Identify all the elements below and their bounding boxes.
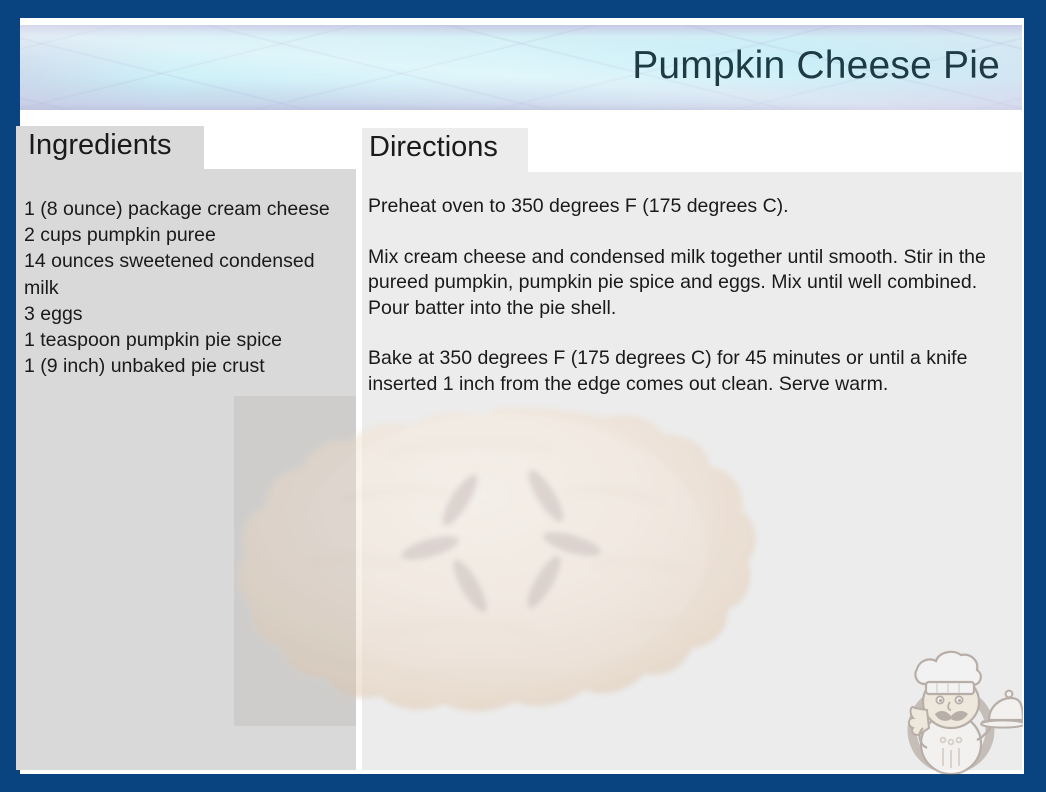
page-title: Pumpkin Cheese Pie [632, 44, 1000, 88]
direction-step: Mix cream cheese and condensed milk toge… [368, 245, 1016, 322]
recipe-card: Pumpkin Cheese Pie Ingredients 1 (8 ounc… [0, 0, 1046, 792]
ingredient-item: 2 cups pumpkin puree [24, 222, 350, 248]
recipe-banner: Pumpkin Cheese Pie [20, 25, 1022, 110]
direction-step: Preheat oven to 350 degrees F (175 degre… [368, 194, 1016, 220]
ingredients-list: 1 (8 ounce) package cream cheese2 cups p… [24, 196, 350, 379]
ingredient-item: 1 teaspoon pumpkin pie spice [24, 327, 350, 353]
ingredients-header-tab: Ingredients [16, 126, 204, 169]
ingredients-panel: 1 (8 ounce) package cream cheese2 cups p… [16, 169, 356, 770]
directions-header-tab: Directions [362, 128, 528, 172]
direction-step: Bake at 350 degrees F (175 degrees C) fo… [368, 346, 1016, 397]
ingredient-item: 3 eggs [24, 301, 350, 327]
directions-panel: Preheat oven to 350 degrees F (175 degre… [362, 172, 1022, 770]
ingredients-heading: Ingredients [28, 129, 172, 162]
directions-heading: Directions [369, 131, 498, 164]
ingredient-item: 14 ounces sweetened condensed milk [24, 248, 350, 300]
ingredient-item: 1 (9 inch) unbaked pie crust [24, 353, 350, 379]
directions-steps: Preheat oven to 350 degrees F (175 degre… [368, 194, 1016, 397]
ingredient-item: 1 (8 ounce) package cream cheese [24, 196, 350, 222]
